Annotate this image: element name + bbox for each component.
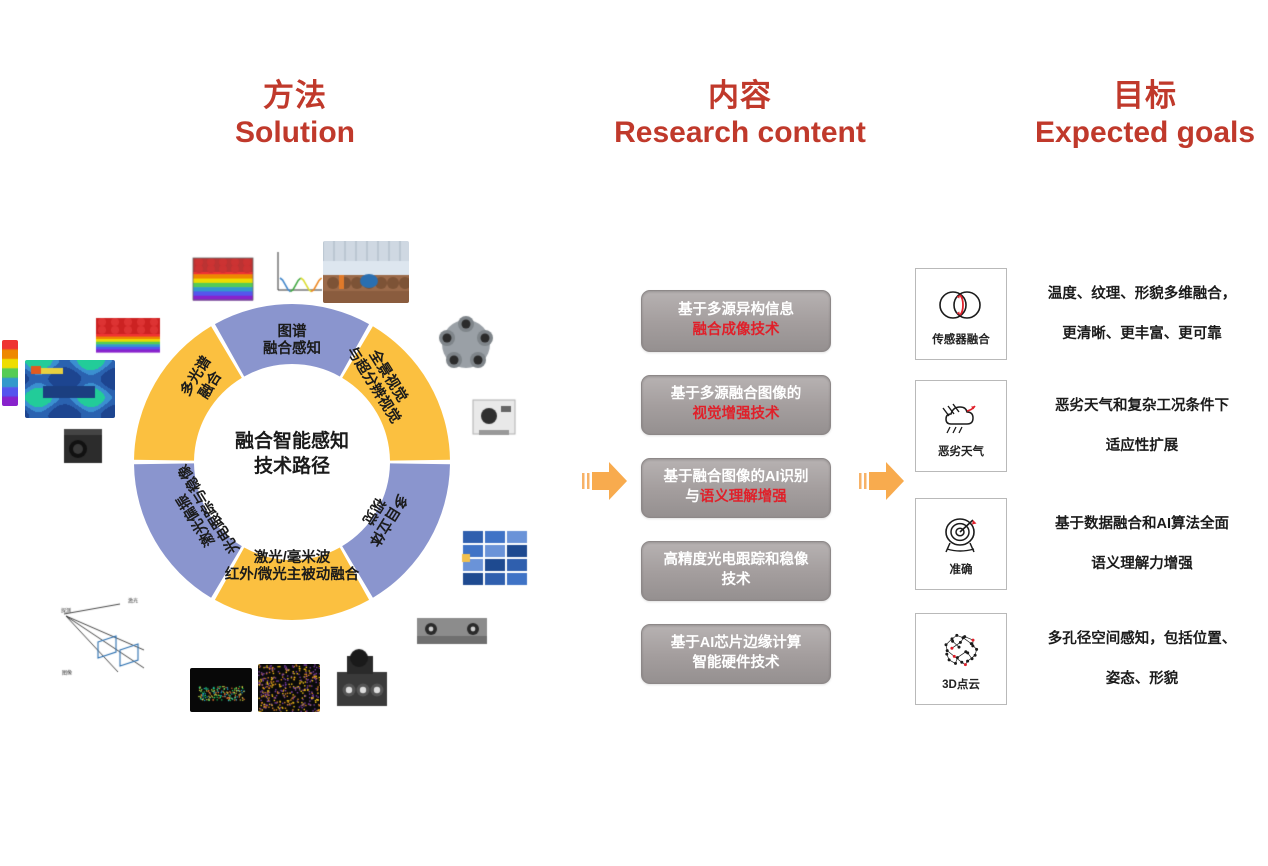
wheel-center-line1: 融合智能感知 bbox=[192, 430, 392, 455]
research-box-0-line1: 基于多源异构信息 bbox=[678, 301, 794, 321]
goal-text-0: 温度、纹理、形貌多维融合， 更清晰、更丰富、更可靠 bbox=[1027, 268, 1257, 360]
thumbnail-stereo-depth-map bbox=[460, 528, 530, 586]
thumbnail-thermal-image bbox=[25, 360, 115, 418]
thumbnail-pipeline-inspection-photo bbox=[323, 241, 409, 303]
thumbnail-spectral-curve-plot bbox=[268, 244, 326, 304]
goal-1-line1: 恶劣天气和复杂工况条件下 bbox=[1027, 396, 1257, 416]
research-box-4-line2: 智能硬件技术 bbox=[671, 654, 802, 674]
goal-0-line1: 温度、纹理、形貌多维融合， bbox=[1027, 284, 1257, 304]
header-content-zh: 内容 bbox=[595, 78, 885, 115]
goal-card-2[interactable]: 准确 bbox=[915, 498, 1007, 590]
goal-row-point-cloud: 3D点云 多孔径空间感知，包括位置、 姿态、形貌 bbox=[915, 613, 1255, 705]
goal-card-1[interactable]: 恶劣天气 bbox=[915, 380, 1007, 472]
goal-1-line2: 适应性扩展 bbox=[1027, 436, 1257, 456]
sensor-fusion-icon bbox=[934, 281, 988, 329]
technology-roadmap-wheel: 图谱 融合感知 全景视觉 与超分辨视觉 多目立体 视觉 激光/毫米波 红外/微光… bbox=[132, 302, 452, 622]
goal-3-line2: 姿态、形貌 bbox=[1027, 669, 1257, 689]
wheel-segment-0[interactable] bbox=[215, 304, 369, 376]
research-box-2-line2-plain: 与 bbox=[685, 489, 700, 505]
goal-card-1-caption: 恶劣天气 bbox=[938, 443, 984, 459]
thumbnail-optical-instrument bbox=[465, 390, 523, 442]
diagram-canvas: 方法 Solution 内容 Research content 目标 Expec… bbox=[0, 0, 1268, 866]
goal-2-line2: 语义理解力增强 bbox=[1027, 554, 1257, 574]
wheel-segment-2[interactable] bbox=[342, 463, 450, 597]
research-box-0-highlight: 融合成像技术 bbox=[693, 322, 780, 338]
research-box-3-line2: 技术 bbox=[664, 571, 809, 591]
header-solution-en: Solution bbox=[150, 115, 440, 150]
flow-arrow-solution-to-content bbox=[578, 459, 630, 508]
goal-2-line1: 基于数据融合和AI算法全面 bbox=[1027, 514, 1257, 534]
research-box-3[interactable]: 高精度光电跟踪和稳像 技术 bbox=[641, 541, 831, 601]
goal-row-bad-weather: 恶劣天气 恶劣天气和复杂工况条件下 适应性扩展 bbox=[915, 380, 1255, 472]
point-cloud-icon bbox=[938, 626, 984, 674]
goal-text-3: 多孔径空间感知，包括位置、 姿态、形貌 bbox=[1027, 613, 1257, 705]
research-box-4-line1: 基于AI芯片边缘计算 bbox=[671, 634, 802, 654]
research-box-2-line1: 基于融合图像的AI识别 bbox=[664, 468, 809, 488]
research-box-3-line1: 高精度光电跟踪和稳像 bbox=[664, 551, 809, 571]
wheel-segment-3[interactable] bbox=[215, 548, 369, 620]
goal-text-1: 恶劣天气和复杂工况条件下 适应性扩展 bbox=[1027, 380, 1257, 472]
thumbnail-camera-module bbox=[60, 427, 106, 467]
thumbnail-hyperspectral-cube bbox=[185, 244, 263, 306]
goal-row-sensor-fusion: 传感器融合 温度、纹理、形貌多维融合， 更清晰、更丰富、更可靠 bbox=[915, 268, 1255, 360]
thumbnail-color-bar-strip bbox=[2, 340, 18, 406]
wheel-center-label: 融合智能感知 技术路径 bbox=[192, 430, 392, 479]
research-box-1-line1: 基于多源融合图像的 bbox=[671, 385, 802, 405]
goal-card-3[interactable]: 3D点云 bbox=[915, 613, 1007, 705]
research-box-1-highlight: 视觉增强技术 bbox=[693, 406, 780, 422]
column-header-expected-goals: 目标 Expected goals bbox=[1000, 78, 1268, 150]
goal-3-line1: 多孔径空间感知，包括位置、 bbox=[1027, 629, 1257, 649]
flow-arrow-content-to-goals bbox=[855, 459, 907, 508]
thumbnail-eo-turret bbox=[325, 648, 397, 714]
header-content-en: Research content bbox=[595, 115, 885, 150]
goal-card-3-caption: 3D点云 bbox=[942, 676, 980, 692]
thumbnail-infrared-scene bbox=[258, 664, 320, 712]
goal-row-accuracy: 准确 基于数据融合和AI算法全面 语义理解力增强 bbox=[915, 498, 1255, 590]
research-box-2[interactable]: 基于融合图像的AI识别 与语义理解增强 bbox=[641, 458, 831, 518]
wheel-center-line2: 技术路径 bbox=[192, 455, 392, 480]
research-box-4[interactable]: 基于AI芯片边缘计算 智能硬件技术 bbox=[641, 624, 831, 684]
column-header-solution: 方法 Solution bbox=[150, 78, 440, 150]
wheel-segment-4[interactable] bbox=[134, 463, 242, 597]
goal-card-0-caption: 传感器融合 bbox=[932, 331, 990, 347]
thumbnail-lidar-point-cloud bbox=[190, 668, 252, 712]
goal-text-2: 基于数据融合和AI算法全面 语义理解力增强 bbox=[1027, 498, 1257, 590]
header-solution-zh: 方法 bbox=[150, 78, 440, 115]
goal-0-line2: 更清晰、更丰富、更可靠 bbox=[1027, 324, 1257, 344]
research-box-1[interactable]: 基于多源融合图像的 视觉增强技术 bbox=[641, 375, 831, 435]
header-goals-zh: 目标 bbox=[1000, 78, 1268, 115]
target-accuracy-icon bbox=[937, 511, 985, 559]
goal-card-0[interactable]: 传感器融合 bbox=[915, 268, 1007, 360]
bad-weather-icon bbox=[937, 393, 985, 441]
research-box-2-highlight: 语义理解增强 bbox=[700, 489, 787, 505]
column-header-research-content: 内容 Research content bbox=[595, 78, 885, 150]
research-box-0[interactable]: 基于多源异构信息 融合成像技术 bbox=[641, 290, 831, 352]
header-goals-en: Expected goals bbox=[1000, 115, 1268, 150]
goal-card-2-caption: 准确 bbox=[950, 561, 973, 577]
